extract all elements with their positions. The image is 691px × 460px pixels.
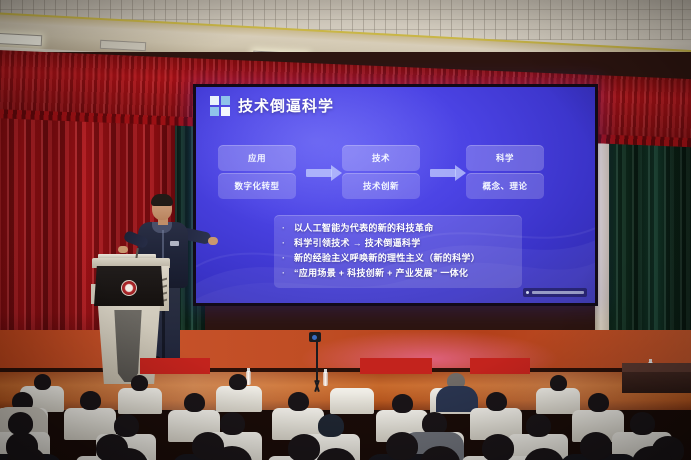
bullet-marker: · [282, 251, 294, 266]
camera-icon [309, 332, 321, 342]
audience-head [550, 375, 567, 391]
bullet-text: 新的经验主义呼唤新的理性主义（新的科学） [294, 253, 480, 263]
audience-head [288, 392, 309, 411]
bullet-marker: · [282, 221, 294, 236]
flow-arrow-2 [420, 145, 466, 201]
audience [0, 366, 691, 460]
jacket-logo [170, 241, 179, 246]
audience-head [34, 374, 51, 390]
bullet-text: “应用场景 + 科技创新 + 产业发展” 一体化 [294, 268, 468, 278]
audience-head [386, 432, 418, 460]
flow-arrow-1 [296, 145, 342, 201]
audience-head [131, 375, 148, 391]
slide-title: 技术倒逼科学 [210, 95, 334, 116]
four-square-logo-icon [210, 96, 230, 116]
flow-column-1: 应用 数字化转型 [218, 145, 296, 199]
audience-head [288, 434, 320, 460]
audience-head [114, 414, 139, 437]
flow-cell-bottom: 技术创新 [342, 173, 420, 199]
right-arrow-icon [430, 169, 456, 177]
audience-head [580, 432, 612, 460]
slide-content: 技术倒逼科学 应用 数字化转型 技术 技术创新 科学 [196, 87, 595, 303]
audience-head [220, 412, 245, 435]
bullet-marker: · [282, 236, 294, 251]
audience-head-with-cap [318, 414, 344, 437]
bullet-item: ·以人工智能为代表的新的科技革命 [282, 221, 514, 236]
slide-flow-diagram: 应用 数字化转型 技术 技术创新 科学 概念、理论 [218, 145, 576, 201]
audience-shoulders [436, 386, 478, 412]
audience-head [392, 394, 413, 413]
flow-cell-top: 技术 [342, 145, 420, 171]
bullet-text: 以人工智能为代表的新的科技革命 [294, 223, 434, 233]
projection-screen: 技术倒逼科学 应用 数字化转型 技术 技术创新 科学 [193, 84, 598, 306]
flow-cell-bottom: 数字化转型 [218, 173, 296, 199]
right-arrow-icon [306, 169, 332, 177]
flow-cell-bottom: 概念、理论 [466, 173, 544, 199]
presenter-hand-right [208, 237, 218, 245]
audience-head [229, 374, 247, 390]
slide-bullet-panel: ·以人工智能为代表的新的科技革命 ·科学引领技术 → 技术倒逼科学 ·新的经验主… [274, 215, 522, 288]
slide-title-text: 技术倒逼科学 [238, 95, 334, 116]
bullet-item: ·新的经验主义呼唤新的理性主义（新的科学） [282, 251, 514, 266]
flow-cell-top: 应用 [218, 145, 296, 171]
audience-head [486, 392, 507, 411]
bullet-marker: · [282, 266, 294, 281]
bullet-text: 科学引领技术 → 技术倒逼科学 [294, 238, 421, 248]
lecture-hall-photo: 技术倒逼科学 应用 数字化转型 技术 技术创新 科学 [0, 0, 691, 460]
audience-head [588, 393, 609, 412]
audience-head [630, 412, 655, 435]
audience-head [482, 434, 514, 460]
audience-head [184, 393, 205, 412]
flow-column-2: 技术 技术创新 [342, 145, 420, 199]
flow-column-3: 科学 概念、理论 [466, 145, 544, 199]
audience-head [526, 414, 551, 437]
bullet-item: ·“应用场景 + 科技创新 + 产业发展” 一体化 [282, 266, 514, 281]
presenter-glasses [154, 205, 170, 210]
slide-watermark [523, 288, 587, 297]
presenter-hand-left [118, 246, 128, 253]
audience-head [80, 391, 101, 410]
flow-cell-top: 科学 [466, 145, 544, 171]
bullet-item: ·科学引领技术 → 技术倒逼科学 [282, 236, 514, 251]
ceiling-light [0, 33, 42, 46]
institution-crest-emblem [121, 280, 137, 296]
